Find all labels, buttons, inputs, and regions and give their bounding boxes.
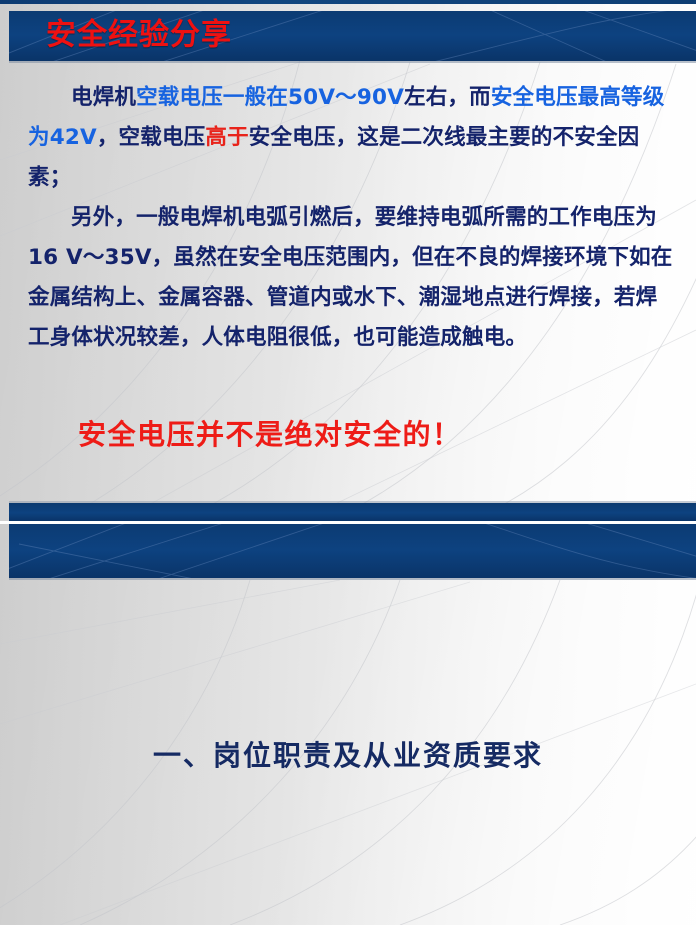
slide-section-divider: 一、岗位职责及从业资质要求 (0, 524, 696, 925)
text-segment-highlight-blue: 空载电压一般在50V～90V (136, 85, 404, 110)
background-artwork (0, 524, 696, 925)
section-heading: 一、岗位职责及从业资质要求 (0, 738, 696, 773)
slide-safety-experience-sharing: 安全经验分享 电焊机空载电压一般在50V～90V左右，而安全电压最高等级为42V… (0, 0, 696, 521)
text-segment: 另外，一般电焊机电弧引燃后，要维持电弧所需的工作电压为16 V～35V，虽然在安… (28, 205, 673, 350)
section-title-banner (9, 524, 696, 578)
slide-title-banner: 安全经验分享 (9, 11, 696, 61)
slide-body-text: 电焊机空载电压一般在50V～90V左右，而安全电压最高等级为42V，空载电压高于… (28, 78, 676, 358)
text-segment: 电焊机 (71, 85, 136, 110)
slide-bottom-bar (9, 503, 696, 521)
slide-deck: 安全经验分享 电焊机空载电压一般在50V～90V左右，而安全电压最高等级为42V… (0, 0, 696, 925)
text-segment: ，空载电压 (97, 125, 206, 150)
paragraph-one: 电焊机空载电压一般在50V～90V左右，而安全电压最高等级为42V，空载电压高于… (28, 78, 676, 198)
text-segment-highlight-red: 高于 (205, 125, 248, 150)
paragraph-two: 另外，一般电焊机电弧引燃后，要维持电弧所需的工作电压为16 V～35V，虽然在安… (28, 198, 676, 358)
page-title: 安全经验分享 (46, 20, 232, 50)
safety-slogan: 安全电压并不是绝对安全的！ (78, 418, 462, 452)
top-accent-strip (0, 0, 696, 4)
banner-artwork (9, 524, 696, 578)
text-segment: 左右，而 (404, 85, 491, 110)
